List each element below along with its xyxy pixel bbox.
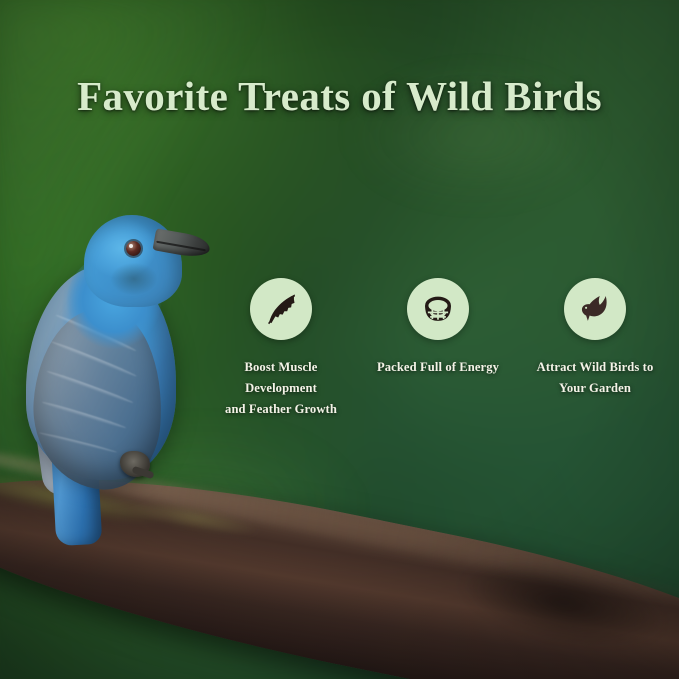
feature-label: Attract Wild Birds to Your Garden (537, 357, 654, 399)
feather-icon (263, 291, 299, 327)
feature-item-attract-birds: Attract Wild Birds to Your Garden (520, 278, 670, 399)
feature-label-line: Packed Full of Energy (377, 357, 499, 378)
feature-item-muscle-development: Boost Muscle Development and Feather Gro… (206, 278, 356, 419)
feature-badge (407, 278, 469, 340)
feature-badge (250, 278, 312, 340)
feature-label: Boost Muscle Development and Feather Gro… (225, 357, 337, 419)
feature-label-line: Development (225, 378, 337, 399)
feature-list: Boost Muscle Development and Feather Gro… (206, 278, 670, 419)
feature-item-energy: Packed Full of Energy (363, 278, 513, 378)
hero-title: Favorite Treats of Wild Birds (0, 72, 679, 120)
feature-label-line: Boost Muscle (225, 357, 337, 378)
feature-label-line: Your Garden (537, 378, 654, 399)
suet-ball-icon (420, 291, 456, 327)
feature-badge (564, 278, 626, 340)
feature-label-line: and Feather Growth (225, 399, 337, 420)
feature-label: Packed Full of Energy (377, 357, 499, 378)
hero-banner: Favorite Treats of Wild Birds Boost Musc… (0, 0, 679, 679)
feature-label-line: Attract Wild Birds to (537, 357, 654, 378)
flying-bird-icon (576, 290, 614, 328)
